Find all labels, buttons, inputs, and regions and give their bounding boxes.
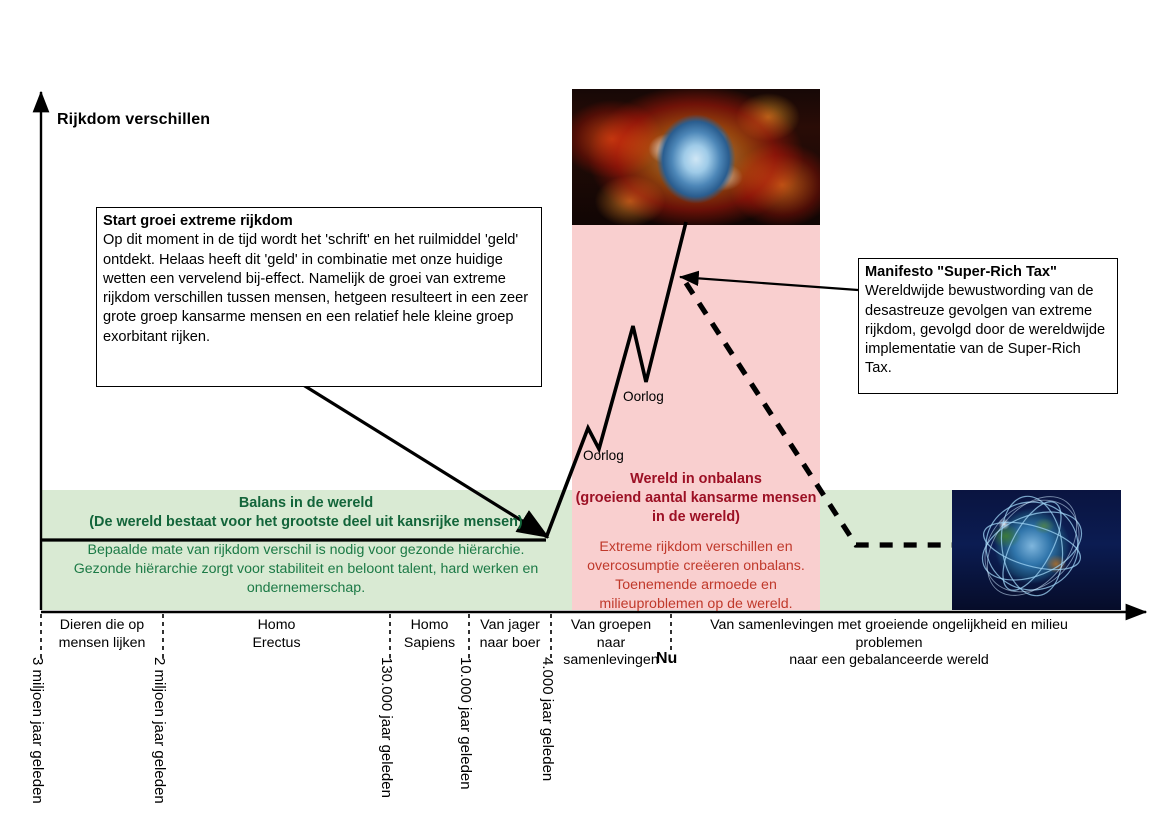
burning-earth-image: [572, 89, 820, 225]
balance-band-right: [820, 490, 952, 610]
pink-band-heading: Wereld in onbalans (groeiend aantal kans…: [574, 470, 818, 527]
era-label-2: Homo Sapiens: [394, 617, 465, 652]
pink-band-body: Extreme rijkdom verschillen en overcosum…: [574, 538, 818, 614]
callout-manifesto-super-rich-tax: Manifesto "Super-Rich Tax" Wereldwijde b…: [858, 258, 1118, 394]
callout-left-heading: Start groei extreme rijkdom: [103, 212, 535, 231]
tick-label-3: 10.000 jaar geleden: [457, 657, 474, 790]
era-label-0: Dieren die op mensen lijken: [45, 617, 159, 652]
callout-start-groei-extreme-rijkdom: Start groei extreme rijkdom Op dit momen…: [96, 207, 542, 387]
orbit-lines-icon: [952, 490, 1121, 610]
page-title: Rijkdom verschillen: [57, 111, 210, 129]
diagram-canvas: Rijkdom verschillen Start groei extreme …: [0, 0, 1169, 827]
callout-left-body: Op dit moment in de tijd wordt het 'schr…: [103, 231, 535, 347]
tick-label-4: 4.000 jaar geleden: [539, 657, 556, 781]
connected-earth-image: [952, 490, 1121, 610]
era-label-1: Homo Erectus: [167, 617, 386, 652]
era-label-3: Van jager naar boer: [473, 617, 547, 652]
now-label: Nu: [656, 650, 677, 668]
era-label-4: Van groepen naar samenlevingen: [555, 617, 667, 670]
callout-right-heading: Manifesto "Super-Rich Tax": [865, 263, 1111, 282]
era-label-5: Van samenlevingen met groeiende ongelijk…: [675, 617, 1103, 670]
annotation-oorlog-1: Oorlog: [583, 448, 624, 463]
annotation-oorlog-2: Oorlog: [623, 389, 664, 404]
callout-right-body: Wereldwijde bewustwording van de desastr…: [865, 282, 1111, 378]
green-band-heading: Balans in de wereld (De wereld bestaat v…: [45, 494, 567, 532]
green-band-body: Bepaalde mate van rijkdom verschil is no…: [45, 541, 567, 598]
tick-label-1: 2 miljoen jaar geleden: [151, 657, 168, 804]
tick-label-0: 3 miljoen jaar geleden: [29, 657, 46, 804]
tick-label-2: 130.000 jaar geleden: [378, 657, 395, 798]
